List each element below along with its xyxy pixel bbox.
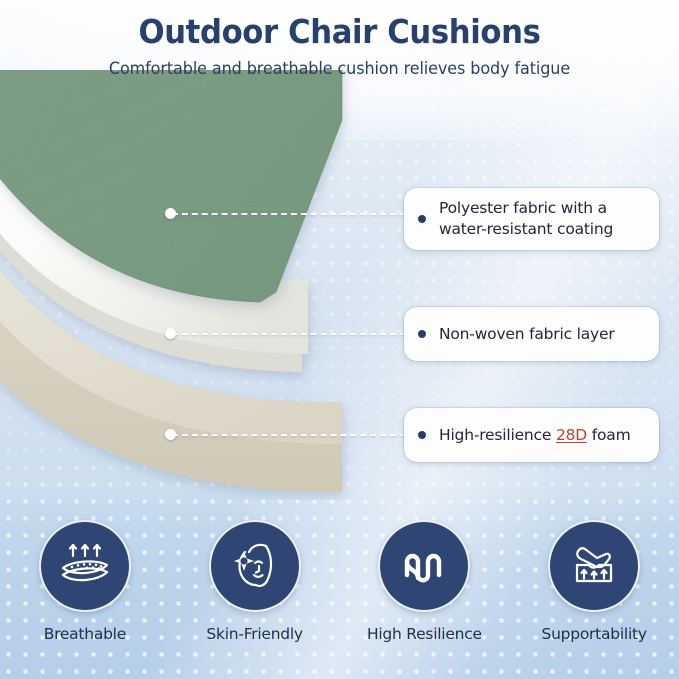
callout-highlight-28d: 28D — [556, 426, 587, 444]
callout-polyester-fabric[interactable]: Polyester fabric with a water-resistant … — [404, 188, 659, 250]
feature-row: Breathable Skin-Friendly — [0, 520, 679, 665]
feature-icon-circle — [39, 520, 131, 612]
bullet-icon — [418, 215, 426, 223]
face-sparkle-icon — [226, 537, 284, 595]
feature-icon-circle — [548, 520, 640, 612]
callout-text: Non-woven fabric layer — [439, 324, 615, 345]
callout-suffix: foam — [587, 426, 630, 444]
page-subtitle: Comfortable and breathable cushion relie… — [10, 59, 669, 78]
callout-text: High-resilience 28D foam — [439, 425, 630, 446]
header: Outdoor Chair Cushions Comfortable and b… — [0, 14, 679, 78]
callout-non-woven-layer[interactable]: Non-woven fabric layer — [404, 307, 659, 361]
feature-breathable[interactable]: Breathable — [0, 520, 170, 665]
feature-high-resilience[interactable]: High Resilience — [340, 520, 510, 665]
callout-text: Polyester fabric with a water-resistant … — [439, 198, 613, 240]
bullet-icon — [418, 431, 426, 439]
callout-line-2: water-resistant coating — [439, 220, 613, 238]
feature-label: Supportability — [541, 625, 646, 643]
callout-line-1: Polyester fabric with a — [439, 199, 607, 217]
spring-coil-icon — [395, 537, 453, 595]
cushion-layers-illustration — [0, 70, 430, 500]
feature-icon-circle — [378, 520, 470, 612]
callout-high-resilience-foam[interactable]: High-resilience 28D foam — [404, 408, 659, 462]
feature-supportability[interactable]: Supportability — [509, 520, 679, 665]
feature-label: High Resilience — [367, 625, 482, 643]
feature-label: Skin-Friendly — [206, 625, 302, 643]
hand-pressing-foam-icon — [565, 537, 623, 595]
product-infographic: Outdoor Chair Cushions Comfortable and b… — [0, 0, 679, 679]
feature-skin-friendly[interactable]: Skin-Friendly — [170, 520, 340, 665]
feature-icon-circle — [209, 520, 301, 612]
bullet-icon — [418, 330, 426, 338]
page-title: Outdoor Chair Cushions — [24, 14, 655, 50]
feature-label: Breathable — [44, 625, 126, 643]
breathable-fabric-icon — [56, 537, 114, 595]
callout-prefix: High-resilience — [439, 426, 556, 444]
